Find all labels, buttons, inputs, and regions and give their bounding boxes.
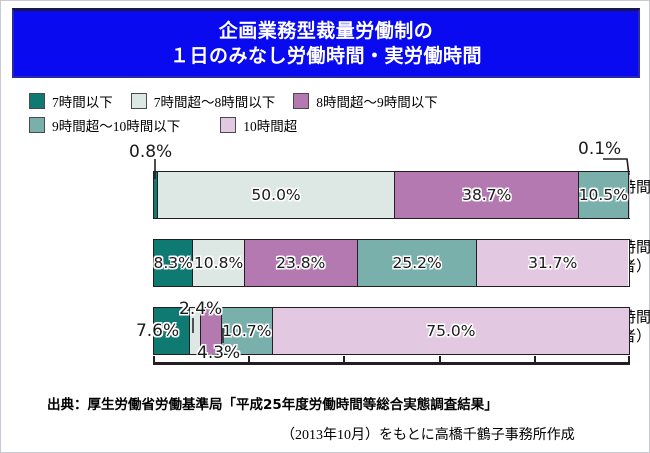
callout-0-8: 0.8% [129, 142, 172, 162]
stacked-bar-chart: みなし労働時間 0.8% 0.1% 50.0% 38.7% 10.5% [1, 151, 650, 381]
bar-value-1-3: 25.2% [392, 254, 441, 272]
footer-source-line: 出典：厚生労働省労働基準局「平成25年度労働時間等総合実態調査結果」 [1, 393, 650, 413]
title-banner: 企画業務型裁量労働制の １日のみなし労働時間・実労働時間 [12, 8, 640, 78]
x-axis-tick-60 [439, 356, 441, 365]
legend-swatch-icon-1 [131, 93, 147, 109]
legend-label-4: 10時間超 [243, 115, 297, 135]
legend-label-3: 9時間超〜10時間以下 [52, 115, 180, 135]
legend-label-0: 7時間以下 [52, 91, 113, 111]
bar-value-1-2: 23.8% [276, 254, 325, 272]
bar-segment-1-0[interactable]: 8.3% [154, 240, 193, 286]
legend-item-1: 7時間超〜8時間以下 [131, 91, 276, 111]
chart-footer: 出典：厚生労働省労働基準局「平成25年度労働時間等総合実態調査結果」 （2013… [1, 393, 650, 444]
legend-swatch-icon-2 [293, 93, 309, 109]
bar-value-1-4: 31.7% [528, 254, 577, 272]
title-line-2: １日のみなし労働時間・実労働時間 [170, 44, 482, 69]
legend-item-4: 10時間超 [220, 115, 297, 135]
bar-segment-0-1[interactable]: 50.0% [158, 172, 396, 218]
bar-value-0-2: 38.7% [462, 186, 511, 204]
bar-value-0-1: 50.0% [251, 186, 300, 204]
legend-row-1: 7時間以下 7時間超〜8時間以下 8時間超〜9時間以下 [29, 89, 629, 113]
bar-segment-2-4[interactable]: 75.0% [273, 308, 629, 354]
chart-legend: 7時間以下 7時間超〜8時間以下 8時間超〜9時間以下 9時間超〜10時間以下 … [29, 89, 629, 137]
legend-item-3: 9時間超〜10時間以下 [29, 115, 180, 135]
bar-value-2-4: 75.0% [426, 322, 475, 340]
footer-credit-line: （2013年10月）をもとに高橋千鶴子事務所作成 [1, 424, 650, 444]
legend-label-1: 7時間超〜8時間以下 [154, 91, 276, 111]
bar-segment-1-3[interactable]: 25.2% [358, 240, 478, 286]
bar-segment-0-2[interactable]: 38.7% [395, 172, 579, 218]
x-axis-tick-100 [628, 356, 630, 365]
callout-0-1: 0.1% [578, 139, 621, 159]
leader-line-2-4 [187, 317, 217, 339]
title-line-1: 企画業務型裁量労働制の [219, 19, 434, 44]
x-axis-tick-80 [534, 356, 536, 365]
bar-row-0[interactable]: 50.0% 38.7% 10.5% [153, 171, 630, 219]
x-axis-tick-40 [343, 356, 345, 365]
callout-2-4: 2.4% [179, 299, 222, 319]
legend-label-2: 8時間超〜9時間以下 [316, 91, 438, 111]
bar-segment-1-4[interactable]: 31.7% [477, 240, 628, 286]
legend-swatch-icon-0 [29, 93, 45, 109]
legend-row-2: 9時間超〜10時間以下 10時間超 [29, 113, 629, 137]
bar-segment-1-1[interactable]: 10.8% [193, 240, 244, 286]
bar-segment-1-2[interactable]: 23.8% [245, 240, 358, 286]
chart-page: 企画業務型裁量労働制の １日のみなし労働時間・実労働時間 7時間以下 7時間超〜… [0, 0, 650, 453]
callout-4-3: 4.3% [197, 343, 240, 363]
bar-value-0-3: 10.5% [579, 186, 628, 204]
bar-row-1[interactable]: 8.3% 10.8% 23.8% 25.2% 31.7% [153, 239, 630, 287]
bar-value-2-0: 7.6% [136, 321, 179, 341]
bar-value-1-0: 8.3% [154, 254, 193, 272]
x-axis-tick-20 [248, 356, 250, 365]
x-axis-tick-0 [153, 356, 155, 365]
legend-swatch-icon-3 [29, 117, 45, 133]
bar-value-1-1: 10.8% [194, 254, 243, 272]
legend-item-2: 8時間超〜9時間以下 [293, 91, 438, 111]
legend-swatch-icon-4 [220, 117, 236, 133]
legend-item-0: 7時間以下 [29, 91, 113, 111]
